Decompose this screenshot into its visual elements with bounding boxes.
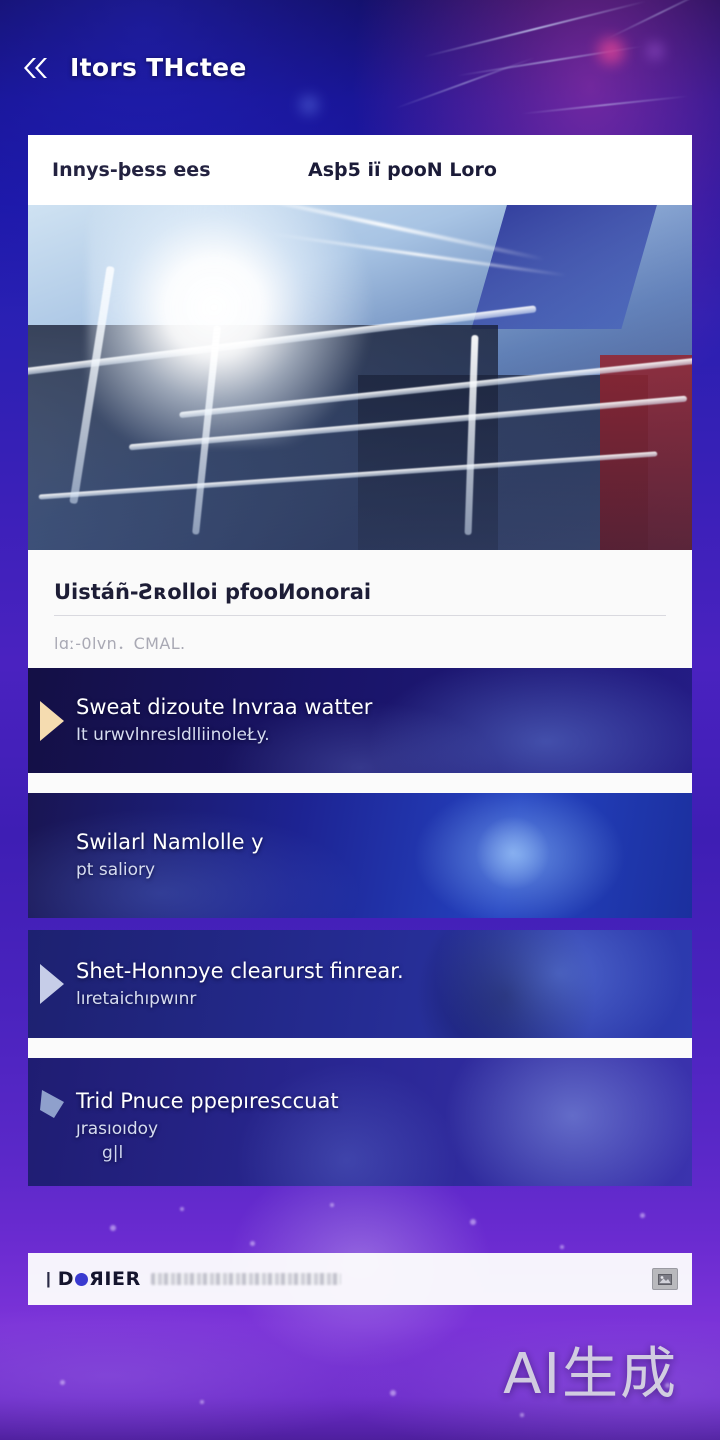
image-icon[interactable] bbox=[652, 1268, 678, 1290]
footer-bar: | D ЯIER bbox=[28, 1253, 692, 1305]
app-title: Itors THctee bbox=[70, 53, 247, 82]
hero-sun-flare bbox=[88, 205, 388, 445]
play-triangle-icon[interactable] bbox=[40, 958, 66, 1010]
double-chevron-icon[interactable] bbox=[22, 53, 52, 83]
ai-generated-watermark: AI生成 bbox=[503, 1329, 678, 1410]
list-item-title: Trid Pnuce ppepıresccuat bbox=[76, 1088, 339, 1115]
footer-blurred-text bbox=[151, 1273, 341, 1285]
wedge-icon[interactable] bbox=[40, 1086, 66, 1138]
topbar-right-label[interactable]: Asþ5 iï pooN Loro bbox=[308, 159, 497, 181]
list-item-title: Shet-Honnɔye clearurst finrear. bbox=[76, 958, 404, 985]
list-item-title: Sweat dizoute Invraa watter bbox=[76, 694, 372, 721]
hero-image bbox=[28, 205, 692, 550]
list-item-subtitle: It urwvlnresldlliinoleŁy. bbox=[76, 724, 372, 747]
list-item[interactable]: Sweat dizoute Invraa watter It urwvlnres… bbox=[28, 668, 692, 773]
list-item-2-text: Swilarl Namlolle y pt saliory bbox=[76, 825, 264, 886]
list-item[interactable]: Swilarl Namlolle y pt saliory bbox=[28, 793, 692, 918]
app-header: Itors THctee bbox=[0, 0, 720, 135]
main-card: Innys-þess ees Asþ5 iï pooN Loro Uistáñ-… bbox=[28, 135, 692, 688]
list-item[interactable]: Shet-Honnɔye clearurst finrear. lıretaic… bbox=[28, 930, 692, 1038]
footer-logo-post: ЯIER bbox=[89, 1268, 141, 1290]
footer-logo[interactable]: D ЯIER bbox=[58, 1268, 141, 1290]
list-item-subtitle: pt saliory bbox=[76, 859, 264, 882]
list-item[interactable]: Trid Pnuce ppepıresccuat ȷrasıoıdoy g|l bbox=[28, 1058, 692, 1186]
list-item-2-marker-none bbox=[40, 830, 66, 882]
list-item-extra: g|l bbox=[102, 1143, 339, 1163]
topbar-left-label[interactable]: Innys-þess ees bbox=[52, 159, 308, 181]
list-item-subtitle: ȷrasıoıdoy bbox=[76, 1118, 339, 1141]
list-item-4-text: Trid Pnuce ppepıresccuat ȷrasıoıdoy g|l bbox=[76, 1084, 339, 1167]
footer-logo-pre: D bbox=[58, 1268, 74, 1290]
card-topbar: Innys-þess ees Asþ5 iï pooN Loro bbox=[28, 135, 692, 205]
info-panel-title: Uistáñ-Ƨʀolloi pfooИonorai bbox=[54, 580, 666, 616]
list-separator bbox=[28, 1038, 692, 1058]
logo-dot-icon bbox=[75, 1273, 88, 1286]
footer-pipe: | bbox=[46, 1269, 51, 1289]
page-root: Itors THctee Innys-þess ees Asþ5 iï pooN… bbox=[0, 0, 720, 1440]
list-item-subtitle: lıretaichıpwınr bbox=[76, 988, 404, 1011]
list-item-1-text: Sweat dizoute Invraa watter It urwvlnres… bbox=[76, 690, 372, 751]
list-item-title: Swilarl Namlolle y bbox=[76, 829, 264, 856]
list-separator bbox=[28, 773, 692, 793]
play-triangle-icon[interactable] bbox=[40, 695, 66, 747]
list-item-3-text: Shet-Honnɔye clearurst finrear. lıretaic… bbox=[76, 954, 404, 1015]
info-panel-subtitle: lɑː-0lvn．ϹMAL. bbox=[54, 616, 666, 654]
